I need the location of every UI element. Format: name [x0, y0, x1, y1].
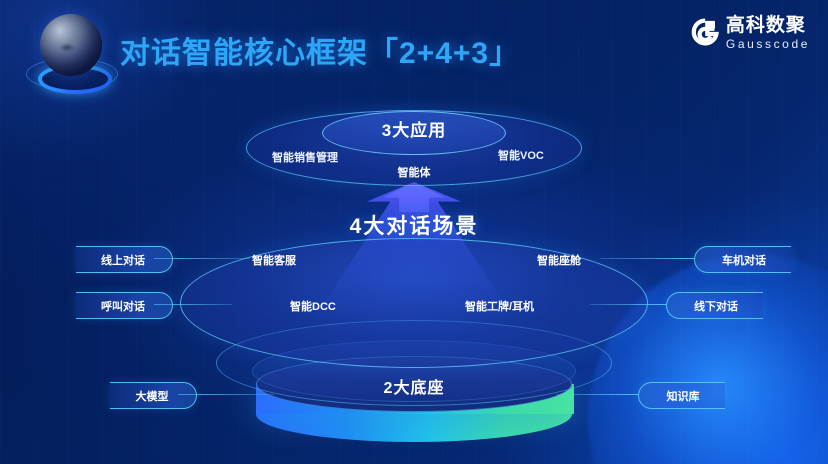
scene-label-2: 智能座舱	[537, 252, 581, 268]
pill-large-model[interactable]: 大模型	[110, 382, 197, 409]
leader-line-invehicle-chat	[600, 258, 694, 259]
leader-line-knowledge-base	[556, 394, 638, 395]
slide-canvas: 对话智能核心框架「2+4+3」 高科数聚 Gausscode 2大底座	[0, 0, 828, 464]
logo-sphere	[40, 14, 102, 76]
brand-logo: 高科数聚 Gausscode	[690, 16, 810, 50]
agent-label: 智能体	[344, 164, 484, 180]
brand-text: 高科数聚 Gausscode	[726, 16, 810, 50]
pill-call-chat[interactable]: 呼叫对话	[76, 292, 173, 319]
application-label-1: 智能销售管理	[272, 149, 338, 165]
scene-label-3: 智能DCC	[290, 298, 336, 314]
application-layer-title: 3大应用	[322, 116, 506, 141]
pill-offline-chat[interactable]: 线下对话	[666, 292, 763, 319]
pill-invehicle-chat[interactable]: 车机对话	[694, 246, 791, 273]
pill-online-chat[interactable]: 线上对话	[76, 246, 173, 273]
pill-knowledge-base[interactable]: 知识库	[638, 382, 725, 409]
application-label-2: 智能VOC	[498, 147, 544, 163]
brand-name-cn: 高科数聚	[726, 16, 810, 35]
sphere-logo-icon	[24, 12, 116, 98]
page-title: 对话智能核心框架「2+4+3」	[120, 28, 520, 72]
brand-name-en: Gausscode	[726, 38, 810, 50]
slide-header: 对话智能核心框架「2+4+3」 高科数聚 Gausscode	[0, 0, 828, 104]
scene-label-1: 智能客服	[252, 252, 296, 268]
scene-label-4: 智能工牌/耳机	[465, 298, 534, 314]
gausscode-g-mark-icon	[690, 17, 720, 47]
scene-layer-title: 4大对话场景	[284, 210, 544, 240]
framework-diagram: 2大底座 4大对话场景 智能客服 智能座舱 智能DCC 智能工牌/耳机 3大应用…	[0, 100, 828, 464]
leader-line-offline-chat	[590, 304, 666, 305]
base-layer-title: 2大底座	[314, 374, 514, 398]
